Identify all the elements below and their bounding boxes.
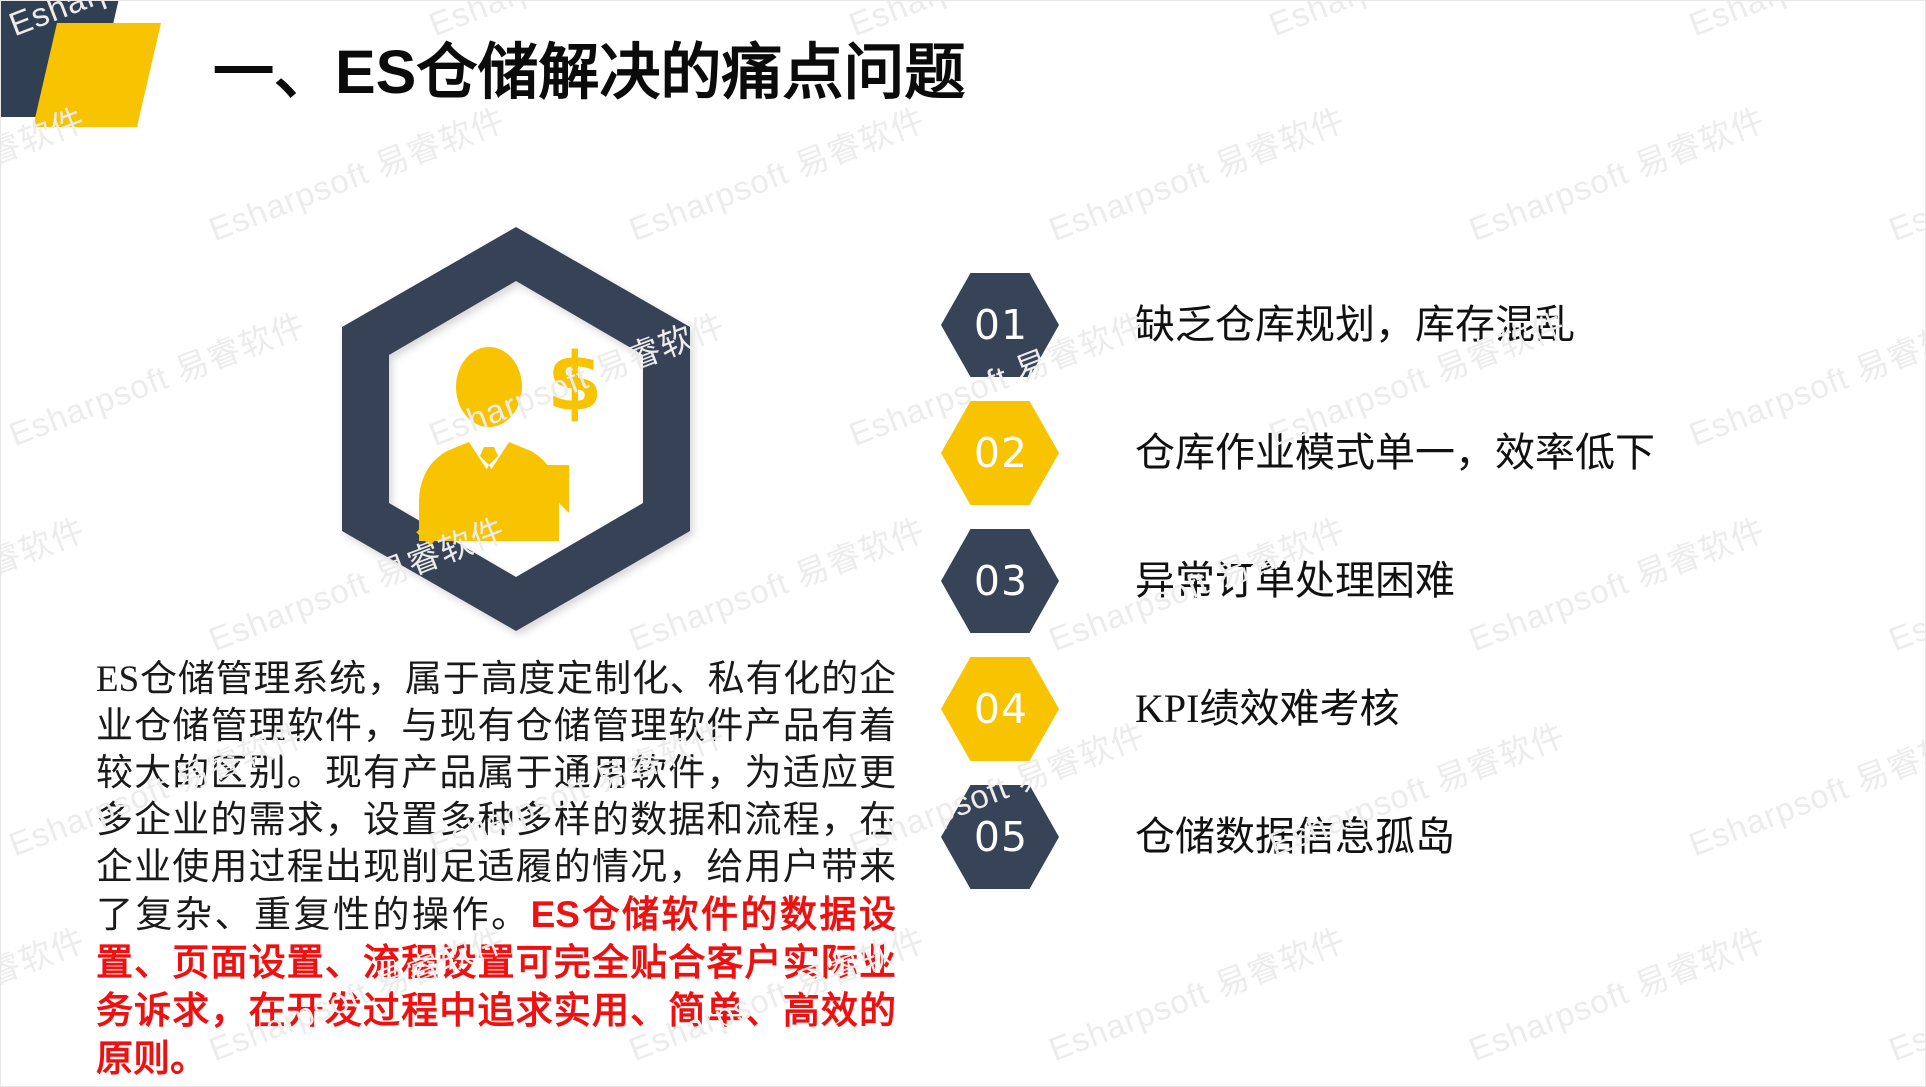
issue-hexagon-01: 01 (941, 273, 1059, 377)
watermark-text: Esharpsoft 易睿软件 (1681, 1, 1926, 46)
issue-number-03: 03 (972, 561, 1028, 602)
watermark-text: Esharpsoft 易睿软件 (1881, 94, 1926, 251)
watermark-text: Esharpsoft 易睿软件 (1, 299, 311, 456)
issue-item-05[interactable]: 05 仓储数据信息孤岛 (941, 773, 1841, 901)
description-paragraph: ES仓储管理系统，属于高度定制化、私有化的企业仓储管理软件，与现有仓储管理软件产… (96, 656, 896, 1083)
issue-item-04[interactable]: 04 KPI绩效难考核 (941, 645, 1841, 773)
issue-label-04: KPI绩效难考核 (1135, 685, 1399, 733)
watermark-text: Esharpsoft 易睿软件 (1, 504, 91, 661)
logo-mark (1, 1, 231, 146)
watermark-text: Esharpsoft 易睿软件 (1881, 914, 1926, 1071)
issue-hexagon-05: 05 (941, 785, 1059, 889)
issue-item-02[interactable]: 02 仓库作业模式单一，效率低下 (941, 389, 1841, 517)
issue-label-01: 缺乏仓库规划，库存混乱 (1135, 301, 1575, 349)
slide-canvas: 一、ES仓储解决的痛点问题 (0, 0, 1926, 1087)
svg-text:$: $ (547, 336, 603, 429)
watermark-text: Esharpsoft 易睿软件 (1461, 94, 1771, 251)
businessman-dollar-growth-icon: $ (419, 336, 603, 541)
issue-item-01[interactable]: 01 缺乏仓库规划，库存混乱 (941, 261, 1841, 389)
issue-number-02: 02 (972, 433, 1028, 474)
page-title: 一、ES仓储解决的痛点问题 (213, 35, 965, 109)
issue-number-01: 01 (972, 305, 1028, 346)
hexagon-outline-shape (342, 227, 690, 631)
watermark-text: Esharpsoft 易睿软件 (1, 914, 91, 1071)
watermark-text: Esharpsoft 易睿软件 (1261, 1, 1571, 46)
issue-number-05: 05 (972, 817, 1028, 858)
issue-list: 01 缺乏仓库规划，库存混乱 02 仓库作业模式单一，效率低下 03 异常订单处… (941, 261, 1841, 901)
issue-label-03: 异常订单处理困难 (1135, 557, 1455, 605)
watermark-text: Esharpsoft 易睿软件 (1041, 914, 1351, 1071)
watermark-text: Esharpsoft 易睿软件 (1461, 914, 1771, 1071)
logo-yellow-parallelogram (33, 23, 161, 127)
issue-label-02: 仓库作业模式单一，效率低下 (1135, 429, 1655, 477)
issue-label-05: 仓储数据信息孤岛 (1135, 813, 1455, 861)
issue-hexagon-03: 03 (941, 529, 1059, 633)
watermark-text: Esharpsoft 易睿软件 (1041, 94, 1351, 251)
issue-item-03[interactable]: 03 异常订单处理困难 (941, 517, 1841, 645)
issue-hexagon-02: 02 (941, 401, 1059, 505)
watermark-text: Esharpsoft 易睿软件 (1881, 504, 1926, 661)
feature-hexagon: $ (321, 219, 711, 639)
issue-number-04: 04 (972, 689, 1028, 730)
issue-hexagon-04: 04 (941, 657, 1059, 761)
